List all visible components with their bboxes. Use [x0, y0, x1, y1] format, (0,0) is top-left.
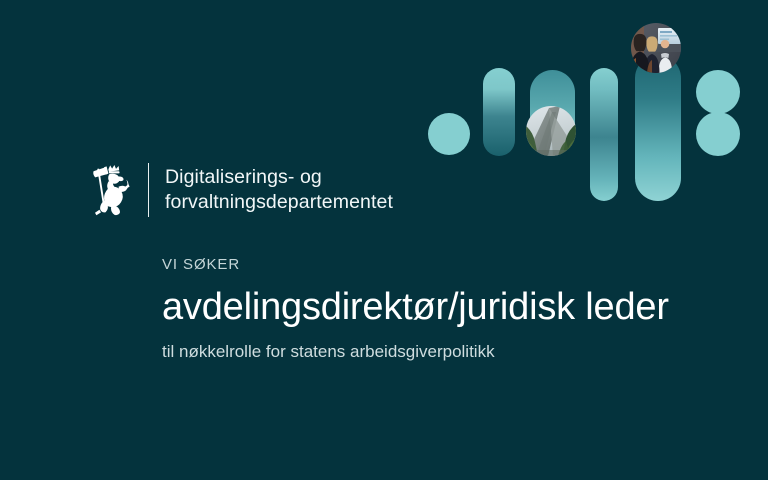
photo-building-roof [526, 106, 576, 156]
decor-pill-5 [635, 55, 681, 201]
job-subtitle: til nøkkelrolle for statens arbeidsgiver… [162, 341, 762, 363]
poster-canvas: Digitaliserings- og forvaltningsdepartem… [0, 0, 768, 480]
eyebrow-label: VI SØKER [162, 256, 762, 274]
decor-pill-2 [483, 68, 515, 156]
brand-divider [148, 163, 149, 217]
brand-lockup: Digitaliserings- og forvaltningsdepartem… [88, 162, 393, 218]
organisation-name: Digitaliserings- og forvaltningsdepartem… [165, 165, 393, 215]
norwegian-coat-of-arms-icon [88, 162, 130, 218]
decor-pill-3 [530, 70, 575, 151]
decor-circle-6a [696, 70, 740, 114]
photo-meeting-room [631, 23, 682, 73]
copy-block: VI SØKER avdelingsdirektør/juridisk lede… [162, 256, 762, 363]
decor-circle-6b [696, 112, 740, 156]
decor-circle-1 [428, 113, 470, 155]
job-title-headline: avdelingsdirektør/juridisk leder [162, 285, 762, 330]
decor-pill-4 [590, 68, 618, 201]
